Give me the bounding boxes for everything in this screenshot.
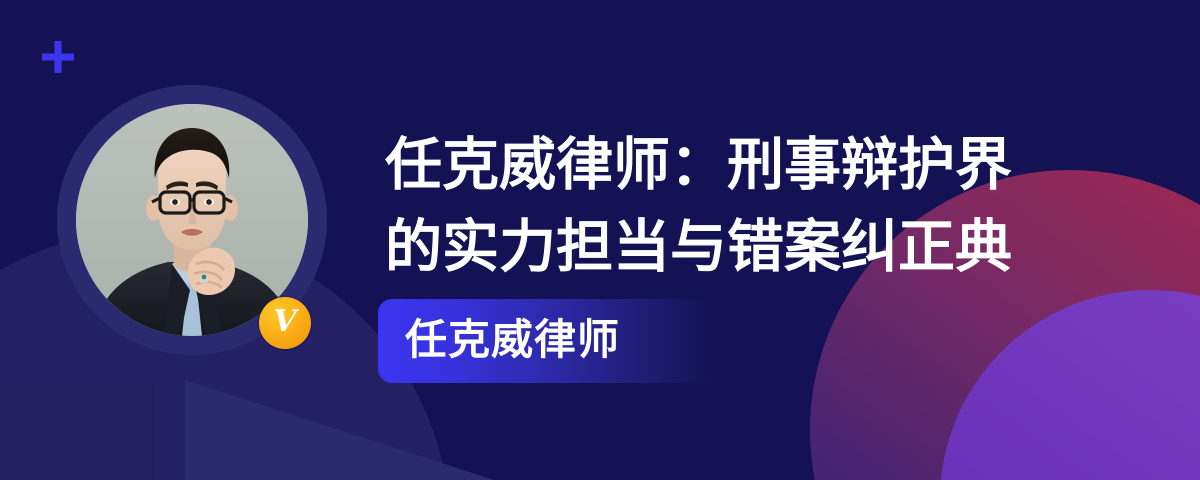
page-title-line-2: 的实力担当与错案纠正典 (385, 206, 1085, 288)
plus-icon (40, 39, 76, 75)
page-title-line-1: 任克威律师：刑事辩护界 (385, 124, 1085, 206)
verified-v-glyph: V (273, 307, 296, 337)
decorative-band-bottom-left (0, 385, 155, 480)
avatar[interactable]: V (57, 85, 327, 355)
promo-banner: V 任克威律师：刑事辩护界 的实力担当与错案纠正典 范 任克威律师 (0, 0, 1200, 480)
lawyer-name-label: 任克威律师 (405, 314, 620, 366)
verified-badge-icon: V (259, 297, 311, 349)
